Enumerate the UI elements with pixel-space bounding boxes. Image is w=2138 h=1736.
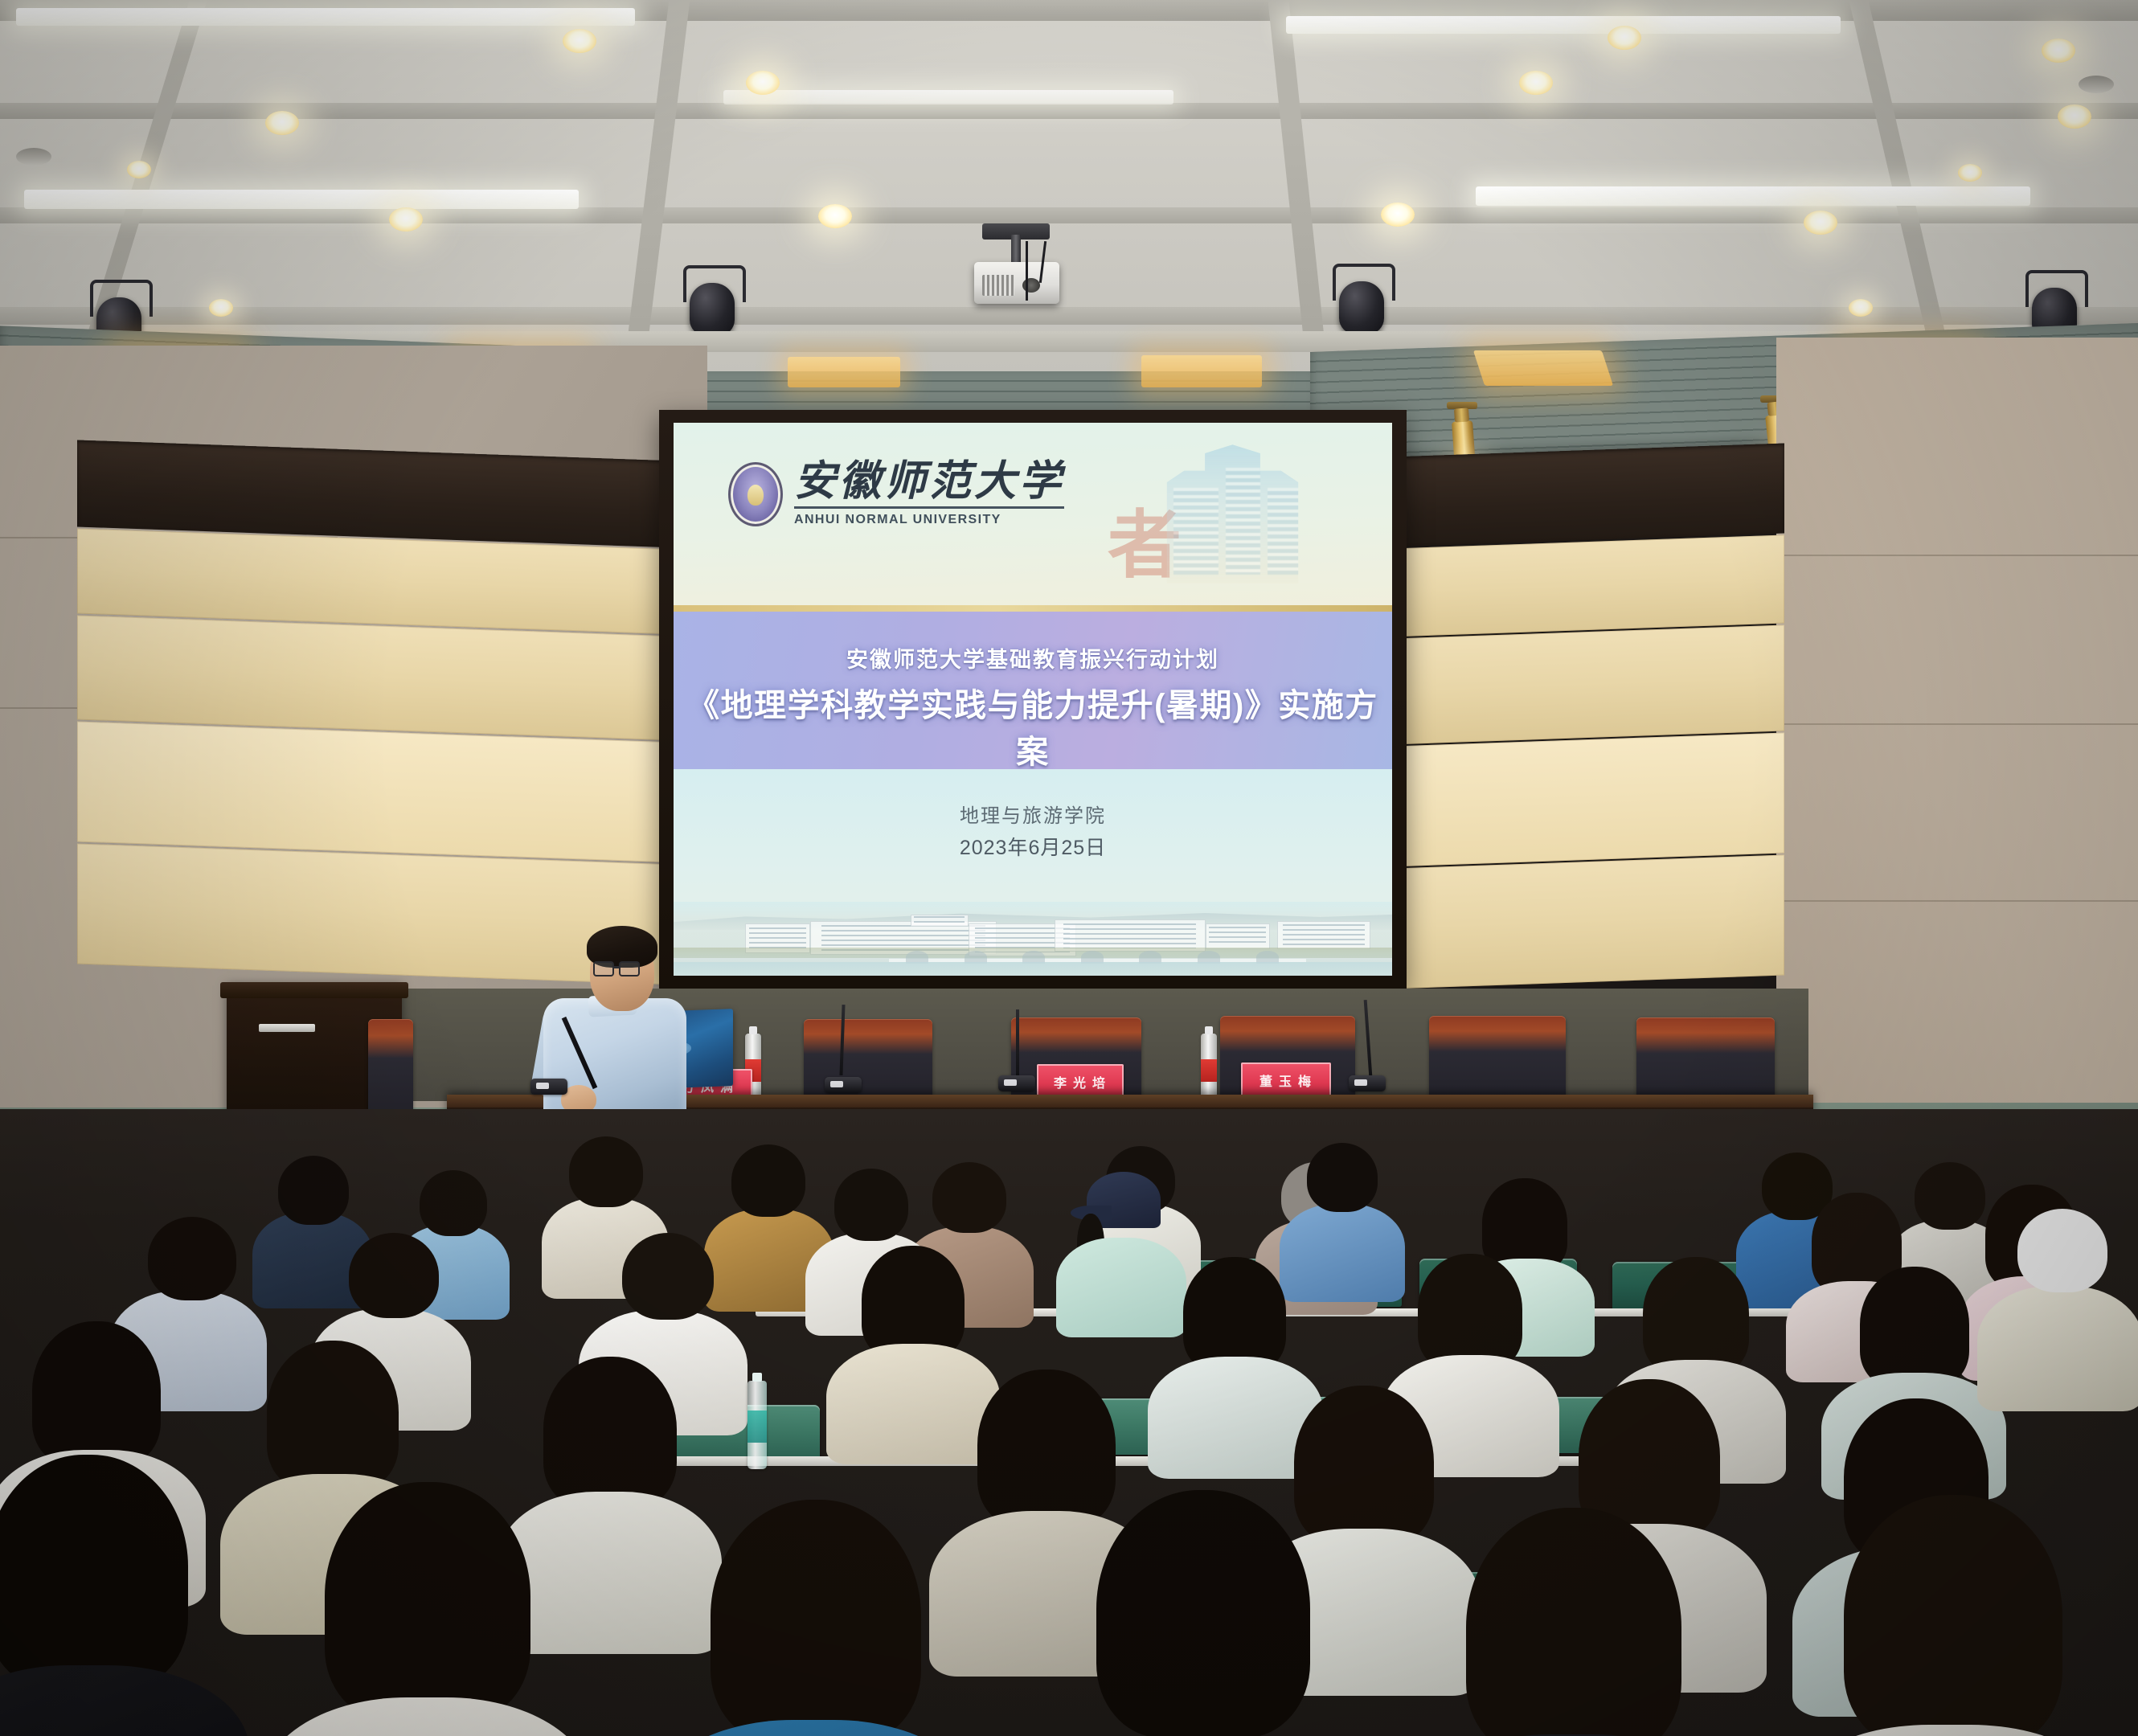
slide-header: 者 安徽师范大学 ANHUI NORMAL UNIVERSITY (674, 423, 1392, 605)
audience-hair (1466, 1508, 1681, 1736)
audience-hair (1294, 1386, 1434, 1545)
ceiling-linear-light (1286, 16, 1841, 34)
ceiling-downlight (1849, 299, 1873, 317)
ceiling-downlight (1381, 203, 1415, 227)
projector-cable (1026, 241, 1028, 301)
projector-vent-icon (982, 275, 1014, 296)
wall-panel-cream (1358, 534, 1784, 638)
wall-panel-cream (1358, 732, 1784, 868)
university-logo: 安徽师范大学 ANHUI NORMAL UNIVERSITY (728, 461, 1064, 527)
audience-hair (1096, 1490, 1310, 1736)
projector (974, 262, 1059, 304)
slide-gold-divider (674, 605, 1392, 612)
audience-hair (834, 1169, 908, 1241)
wall-seam (1778, 555, 2138, 556)
name-placard-text: 董 玉 梅 (1241, 1062, 1331, 1098)
audience-hair (1915, 1162, 1985, 1230)
ceiling-downlight (1804, 211, 1837, 235)
ceiling-downlight (1958, 164, 1982, 182)
audience-hair (278, 1156, 349, 1225)
slide-department: 地理与旅游学院 (674, 800, 1392, 828)
ceiling-downlight (746, 71, 780, 95)
audience-hair (1482, 1178, 1567, 1271)
presentation-slide: 者 安徽师范大学 ANHUI NORMAL UNIVERSITY (674, 423, 1392, 976)
wall-dark-band-right (1358, 443, 1784, 548)
head-table-chair (1636, 1017, 1775, 1103)
header-building-illustration (1146, 439, 1319, 583)
amber-coffer-light (1473, 350, 1613, 386)
audience-hair (1418, 1254, 1522, 1370)
wall-panel-cream (77, 615, 688, 741)
audience-water-bottle (747, 1381, 767, 1469)
microphone-base (825, 1077, 862, 1093)
ceiling-downlight (389, 207, 423, 231)
ceiling-downlight (127, 161, 151, 178)
audience-hair (148, 1217, 236, 1300)
ceiling-vent (16, 148, 51, 166)
speaker-microphone-base (530, 1079, 567, 1095)
audience-hair (622, 1233, 714, 1320)
ceiling-linear-light (1476, 186, 2030, 206)
speaker-glasses-bridge (612, 966, 620, 968)
wall-seam (1778, 723, 2138, 725)
amber-coffer-light (1141, 355, 1262, 387)
ceiling-downlight (265, 111, 299, 135)
ceiling-downlight (1519, 71, 1553, 95)
slide-program-line: 安徽师范大学基础教育振兴行动计划 (674, 642, 1392, 674)
audience-hair (349, 1233, 439, 1318)
building-windows (1268, 488, 1302, 575)
wall-right (1776, 338, 2138, 1189)
name-placard: 董 玉 梅 (1241, 1062, 1331, 1098)
microphone-base (998, 1075, 1035, 1091)
campus-building (1206, 923, 1270, 948)
audience-hair (32, 1321, 161, 1466)
black-stage-light (1339, 281, 1384, 334)
campus-building (911, 915, 969, 927)
slide-footer-band: 地理与旅游学院 2023年6月25日 (674, 769, 1392, 976)
audience-hair (932, 1162, 1006, 1233)
head-table-chair (1429, 1016, 1566, 1101)
ceiling-vent (2079, 76, 2114, 93)
wall-panel-cream (1358, 624, 1784, 746)
university-seal-icon (728, 462, 783, 526)
audience-body (1977, 1286, 2138, 1411)
university-name-cn: 安徽师范大学 (794, 461, 1064, 503)
audience-hair (1860, 1267, 1969, 1387)
audience-hair (862, 1246, 965, 1358)
lecture-hall-photo: 者 安徽师范大学 ANHUI NORMAL UNIVERSITY (0, 0, 2138, 1736)
podium-top-edge (220, 982, 408, 998)
audience-hair (711, 1500, 921, 1736)
audience-hair (2017, 1209, 2107, 1292)
projection-screen[interactable]: 者 安徽师范大学 ANHUI NORMAL UNIVERSITY (674, 423, 1392, 976)
audience-hair (1844, 1495, 2062, 1736)
ceiling-linear-light (16, 8, 635, 26)
amber-coffer-light (788, 357, 900, 387)
ceiling-beam (0, 307, 2138, 325)
slide-main-title: 《地理学科教学实践与能力提升(暑期)》实施方案 (674, 679, 1392, 772)
building-windows (1173, 488, 1218, 575)
audience-body (1056, 1238, 1186, 1337)
ceiling-downlight (818, 204, 852, 228)
audience-hair (420, 1170, 487, 1236)
ceiling-downlight (563, 29, 596, 53)
audience-body (826, 1344, 1000, 1464)
ceiling-downlight (2042, 39, 2075, 63)
campus-panorama-photo (674, 902, 1392, 976)
head-table-chair (804, 1019, 932, 1103)
podium-chair (368, 1019, 413, 1112)
ceiling-linear-light (24, 190, 579, 209)
microphone-stem (1016, 1009, 1019, 1077)
speaker-glasses (619, 961, 640, 976)
audience-hair (267, 1341, 399, 1490)
audience-hair (1307, 1143, 1378, 1212)
microphone-base (1349, 1075, 1386, 1091)
wall-panel-cream (77, 721, 688, 863)
logo-rule (794, 506, 1064, 509)
audience-hair (325, 1482, 530, 1720)
ceiling-linear-light (723, 90, 1173, 104)
audience-body (497, 1492, 722, 1654)
audience-body (1280, 1204, 1405, 1302)
black-stage-light (690, 283, 735, 336)
audience-hair (731, 1144, 805, 1217)
audience-hair (1643, 1257, 1749, 1374)
ceiling-downlight (1608, 26, 1641, 50)
podium-light-slot (259, 1024, 315, 1032)
ceiling-downlight (209, 299, 233, 317)
campus-river (674, 962, 1392, 976)
university-name-en: ANHUI NORMAL UNIVERSITY (794, 513, 1064, 527)
slide-title-band: 安徽师范大学基础教育振兴行动计划 《地理学科教学实践与能力提升(暑期)》实施方案 (674, 612, 1392, 769)
wall-seam (1778, 900, 2138, 902)
speaker-glasses (593, 961, 614, 976)
ceiling-downlight (2058, 104, 2091, 129)
building-windows (1226, 468, 1260, 575)
ceiling-beam (0, 103, 2138, 119)
campus-building (1277, 921, 1370, 949)
audience-hair (1183, 1257, 1286, 1371)
wall-panel-cream (1358, 854, 1784, 990)
audience-hair (569, 1136, 643, 1207)
audience-hair (0, 1455, 188, 1688)
slide-date: 2023年6月25日 (674, 832, 1392, 861)
projector-mount-pole (1011, 235, 1021, 264)
audience-hair (977, 1370, 1116, 1527)
audience-hair (543, 1357, 677, 1508)
